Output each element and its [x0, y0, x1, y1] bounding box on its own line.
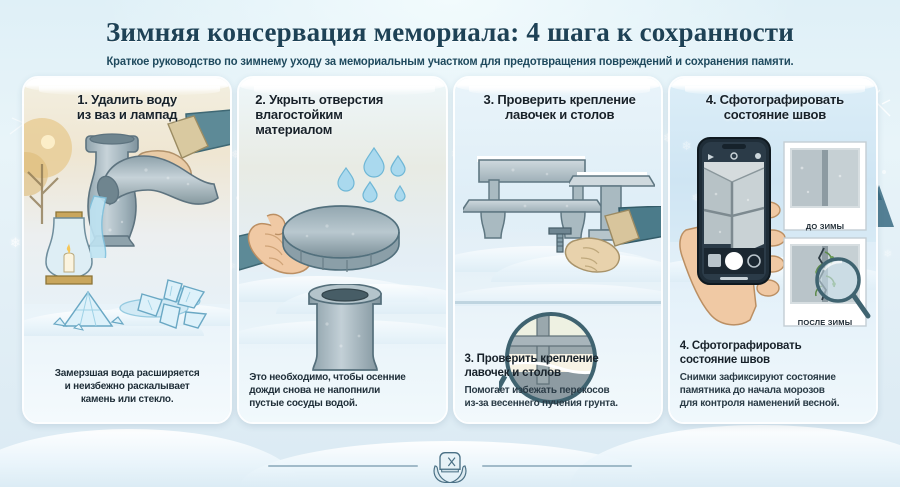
footer [0, 445, 900, 487]
step-4-heading: 4. Сфотографировать состояние швов [682, 92, 864, 123]
step-card-4[interactable]: ❄ ❄ ❄ 4. Сфотографировать состояние швов [668, 76, 878, 424]
step-3-caption-heading: 3. Проверить крепление лавочек и столов [465, 353, 651, 381]
page-title: Зимняя консервация мемориала: 4 шага к с… [24, 18, 876, 48]
step-card-3[interactable]: 3. Проверить крепление лавочек и столов [453, 76, 663, 424]
step-2-caption-body: Это необходимо, чтобы осенние дожди снов… [249, 371, 435, 410]
gloved-hand-wrench-icon [545, 206, 663, 292]
hand-pouring-vase-icon [90, 108, 232, 258]
step-2-caption: Это необходимо, чтобы осенние дожди снов… [249, 371, 435, 410]
infographic-canvas: ❄ ❄ ❄ ❄ ❄ ❄ ❄ ❄ ❄ ❄ ❄ Зимняя консервация… [0, 0, 900, 487]
steps-container: 1. Удалить воду из ваз и лампад [0, 76, 900, 424]
step-4-caption-body: Снимки зафиксируют состояние памятника д… [680, 371, 866, 410]
footer-divider-left [268, 465, 418, 467]
vase-opening-icon [285, 284, 405, 376]
step-3-heading: 3. Проверить крепление лавочек и столов [467, 92, 649, 123]
page-subtitle: Краткое руководство по зимнему уходу за … [37, 56, 863, 68]
step-1-caption: Замерзшая вода расширяется и неизбежно р… [34, 367, 220, 406]
step-1-caption-body: Замерзшая вода расширяется и неизбежно р… [34, 367, 220, 406]
hands-holding-memorial-stone-icon [430, 449, 470, 483]
footer-divider-right [482, 465, 632, 467]
photo-before-label: ДО ЗИМЫ [782, 216, 868, 234]
magnifying-glass-icon [810, 254, 874, 324]
header: Зимняя консервация мемориала: 4 шага к с… [0, 0, 900, 76]
step-card-2[interactable]: 2. Укрыть отверстия влагостойким материа… [237, 76, 447, 424]
broken-glass-icon [128, 278, 214, 334]
step-4-caption: 4. Сфотографировать состояние швов Снимк… [680, 340, 866, 410]
step-3-caption-body: Помогает избежать перекосов из-за весенн… [465, 384, 651, 410]
hand-holding-smartphone-icon [676, 134, 792, 334]
step-4-caption-heading: 4. Сфотографировать состояние швов [680, 340, 866, 368]
step-2-heading: 2. Укрыть отверстия влагостойким материа… [251, 92, 433, 138]
ice-mound-icon [46, 288, 130, 336]
step-1-heading: 1. Удалить воду из ваз и лампад [36, 92, 218, 123]
camera-viewfinder-seam-icon [704, 162, 764, 258]
step-card-1[interactable]: 1. Удалить воду из ваз и лампад [22, 76, 232, 424]
step-3-caption: 3. Проверить крепление лавочек и столов … [465, 353, 651, 410]
